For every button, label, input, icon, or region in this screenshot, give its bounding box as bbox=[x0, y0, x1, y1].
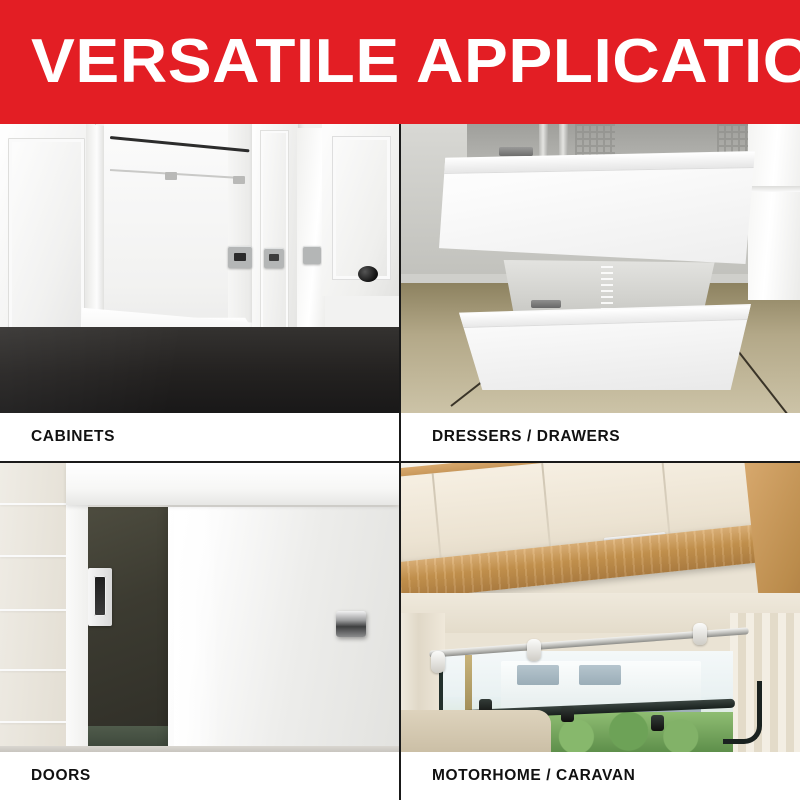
cabinet-hinge-icon bbox=[228, 246, 252, 268]
caravan-window bbox=[579, 665, 621, 685]
caravan-window bbox=[517, 665, 559, 685]
open-cabinet-door bbox=[252, 124, 298, 360]
caption-dressers-drawers: DRESSERS / DRAWERS bbox=[401, 413, 800, 461]
open-cabinet-door-second bbox=[297, 128, 325, 350]
caption-motorhome-caravan: MOTORHOME / CARAVAN bbox=[401, 752, 800, 800]
window-stay-icon bbox=[723, 681, 762, 744]
panel-groove bbox=[748, 186, 800, 192]
door-jamb bbox=[66, 503, 88, 752]
seat-cushion bbox=[401, 710, 551, 752]
grid-horizontal-divider bbox=[0, 461, 800, 463]
window-latch-icon bbox=[651, 715, 664, 731]
cabinet-hinge-icon bbox=[264, 248, 284, 268]
caption-doors: DOORS bbox=[0, 752, 399, 800]
tile-line bbox=[0, 669, 66, 671]
grid-cell-dressers-drawers[interactable]: DRESSERS / DRAWERS bbox=[401, 124, 800, 461]
perforated-panel bbox=[575, 124, 615, 158]
page-title: VERSATILE APPLICATION bbox=[31, 31, 800, 93]
lower-drawer-front bbox=[459, 304, 751, 390]
cabinets-photo bbox=[0, 124, 399, 413]
door-sheen bbox=[174, 507, 220, 752]
flush-pull-handle-icon bbox=[88, 568, 112, 626]
cabinet-hinge-icon bbox=[303, 246, 321, 264]
grid-cell-doors[interactable]: DOORS bbox=[0, 463, 399, 800]
door-gap bbox=[88, 507, 168, 752]
versatile-application-page: VERSATILE APPLICATION bbox=[0, 0, 800, 800]
header-banner: VERSATILE APPLICATION bbox=[0, 0, 800, 124]
doors-photo bbox=[0, 463, 399, 752]
chrome-door-handle-icon bbox=[336, 611, 366, 637]
shelf-clip-icon bbox=[233, 176, 245, 184]
upper-drawer-front bbox=[439, 151, 755, 264]
motorhome-caravan-photo bbox=[401, 463, 800, 752]
blind-roller-icon bbox=[527, 639, 541, 661]
drawer-clip-icon bbox=[531, 300, 561, 308]
caption-label: DOORS bbox=[31, 767, 91, 785]
tile-line bbox=[0, 555, 66, 557]
tiled-wall bbox=[0, 463, 66, 752]
tile-line bbox=[0, 609, 66, 611]
blind-roller-icon bbox=[693, 623, 707, 645]
drawer-box-perforation bbox=[601, 266, 613, 310]
dressers-drawers-photo bbox=[401, 124, 800, 413]
tile-line bbox=[0, 721, 66, 723]
caption-label: DRESSERS / DRAWERS bbox=[432, 428, 620, 446]
door-header-rail bbox=[66, 463, 399, 505]
grid-cell-cabinets[interactable]: CABINETS bbox=[0, 124, 399, 461]
blind-roller-icon bbox=[431, 651, 445, 673]
grid-cell-motorhome-caravan[interactable]: MOTORHOME / CARAVAN bbox=[401, 463, 800, 800]
caption-cabinets: CABINETS bbox=[0, 413, 399, 461]
drawer-clip-icon bbox=[499, 147, 533, 156]
application-grid: CABINETS bbox=[0, 124, 800, 800]
caption-label: CABINETS bbox=[31, 428, 115, 446]
cabinet-knob-icon bbox=[358, 266, 378, 282]
window-latch-icon bbox=[561, 706, 574, 722]
dark-floor bbox=[0, 327, 399, 413]
tile-line bbox=[0, 503, 66, 505]
tile-seam bbox=[730, 341, 800, 413]
caption-label: MOTORHOME / CARAVAN bbox=[432, 767, 635, 785]
shelf-clip-icon bbox=[165, 172, 177, 180]
dresser-side-panel bbox=[748, 124, 800, 300]
